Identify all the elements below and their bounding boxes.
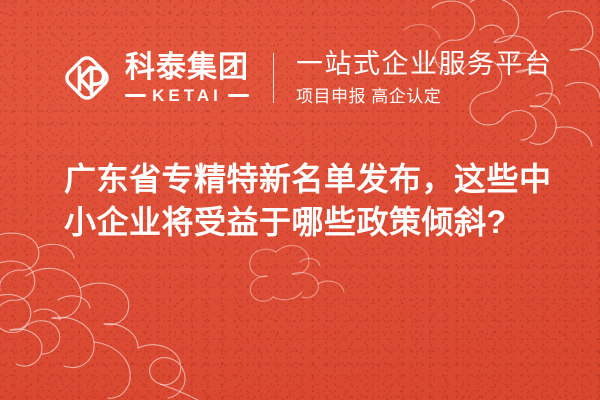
brand-logo[interactable]: 科泰集团 KETAI [58,49,249,107]
header-divider [273,53,274,103]
tagline-block: 一站式企业服务平台 项目申报 高企认定 [296,49,553,108]
promo-banner: 科泰集团 KETAI 一站式企业服务平台 项目申报 高企认定 广东省专精特新名单… [0,0,600,400]
banner-header: 科泰集团 KETAI 一站式企业服务平台 项目申报 高企认定 [58,44,553,112]
headline-line-2: 小企业将受益于哪些政策倾斜? [64,201,554,244]
wordmark-rule-left [125,94,146,97]
tagline-primary: 一站式企业服务平台 [296,49,553,80]
tagline-secondary: 项目申报 高企认定 [296,87,553,107]
brand-wordmark: 科泰集团 KETAI [125,52,249,104]
brand-name-cn: 科泰集团 [125,52,249,84]
headline: 广东省专精特新名单发布，这些中 小企业将受益于哪些政策倾斜? [64,158,554,244]
ketai-diamond-kp-monogram-icon [58,49,116,107]
brand-name-en: KETAI [152,87,222,104]
banner-content: 科泰集团 KETAI 一站式企业服务平台 项目申报 高企认定 广东省专精特新名单… [0,0,600,400]
headline-line-1: 广东省专精特新名单发布，这些中 [64,158,554,201]
wordmark-rule-right [228,94,249,97]
brand-name-en-row: KETAI [125,87,249,104]
